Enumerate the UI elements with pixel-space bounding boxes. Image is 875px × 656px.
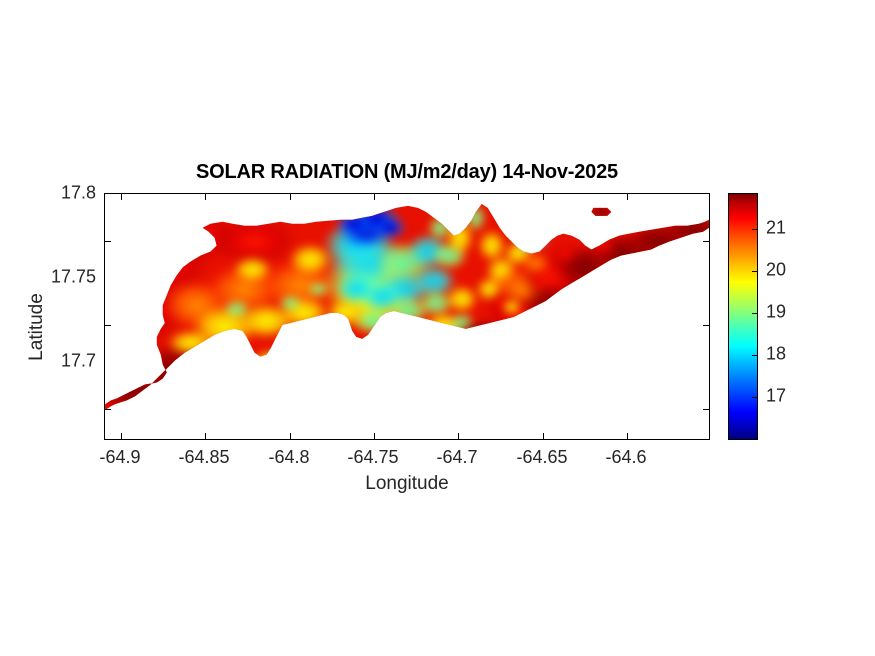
colorbar-tick	[752, 313, 757, 314]
ytick-mark	[105, 241, 111, 242]
map-axes[interactable]	[104, 193, 710, 440]
xtick-label: -64.85	[178, 447, 229, 468]
ytick-mark	[105, 409, 111, 410]
colorbar-tick-label: 20	[766, 260, 786, 281]
colorbar-tick	[752, 271, 757, 272]
colorbar-tick-label: 17	[766, 386, 786, 407]
solar-radiation-heatmap	[105, 194, 709, 439]
xtick-mark	[121, 433, 122, 439]
xtick-label: -64.6	[605, 447, 646, 468]
ytick-label: 17.8	[34, 183, 96, 204]
xtick-mark-top	[543, 194, 544, 200]
colorbar-tick-label: 19	[766, 302, 786, 323]
figure-canvas: SOLAR RADIATION (MJ/m2/day) 14-Nov-2025	[0, 0, 875, 656]
colorbar-tick	[752, 397, 757, 398]
xtick-label: -64.7	[436, 447, 477, 468]
xtick-mark-top	[458, 194, 459, 200]
colorbar[interactable]	[728, 193, 758, 440]
colorbar-tick	[752, 229, 757, 230]
x-axis-label: Longitude	[104, 473, 710, 495]
xtick-mark-top	[290, 194, 291, 200]
colorbar-tick	[752, 355, 757, 356]
colorbar-tick-label: 18	[766, 344, 786, 365]
xtick-mark-top	[205, 194, 206, 200]
ytick-mark-right	[703, 409, 709, 410]
xtick-mark	[374, 433, 375, 439]
xtick-mark	[458, 433, 459, 439]
xtick-mark	[290, 433, 291, 439]
xtick-mark	[627, 433, 628, 439]
xtick-label: -64.8	[268, 447, 309, 468]
ytick-mark	[105, 325, 111, 326]
xtick-mark-top	[374, 194, 375, 200]
xtick-mark	[543, 433, 544, 439]
ytick-mark-right	[703, 325, 709, 326]
page-title: SOLAR RADIATION (MJ/m2/day) 14-Nov-2025	[104, 161, 710, 184]
y-axis-label: Latitude	[26, 267, 48, 387]
xtick-label: -64.65	[516, 447, 567, 468]
ytick-mark-right	[703, 241, 709, 242]
xtick-mark	[205, 433, 206, 439]
colorbar-tick-label: 21	[766, 218, 786, 239]
xtick-label: -64.9	[99, 447, 140, 468]
xtick-mark-top	[627, 194, 628, 200]
xtick-label: -64.75	[347, 447, 398, 468]
xtick-mark-top	[121, 194, 122, 200]
